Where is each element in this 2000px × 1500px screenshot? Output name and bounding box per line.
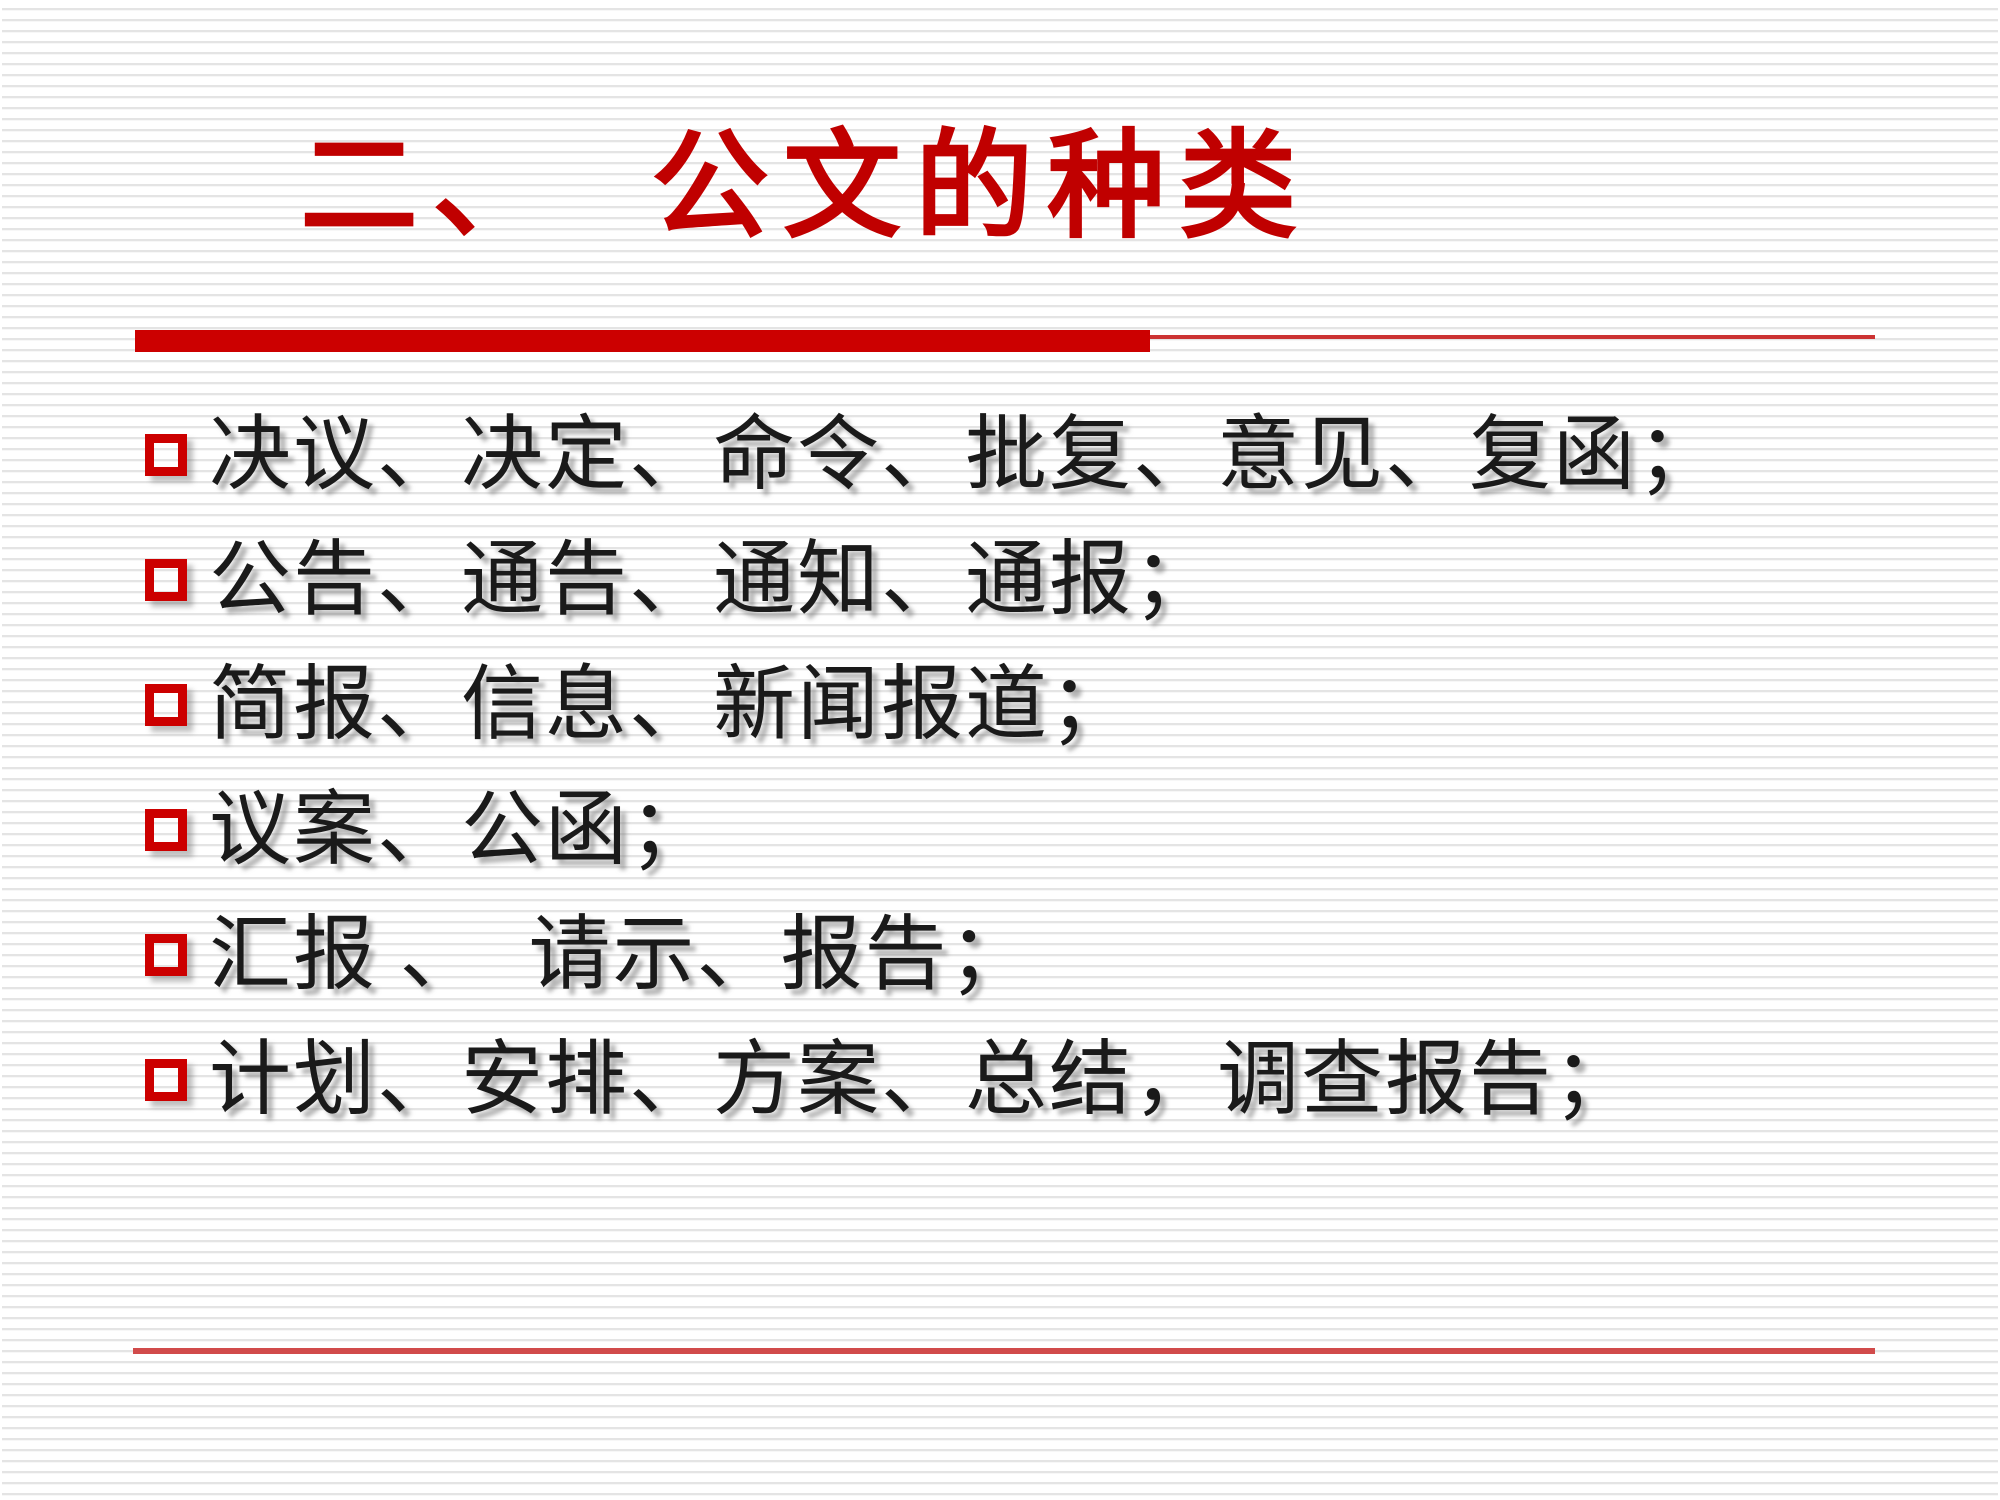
list-item-label: 决议、决定、命令、批复、意见、复函； — [209, 409, 1945, 501]
list-item-label: 简报、信息、新闻报道； — [209, 659, 1945, 751]
list-item: 汇报 、 请示、报告； — [145, 892, 1945, 1017]
square-bullet-icon — [145, 1059, 187, 1101]
slide-canvas: 二、 公文的种类 决议、决定、命令、批复、意见、复函； 公告、通告、通知、通报；… — [0, 0, 2000, 1500]
page-title: 二、 公文的种类 — [300, 118, 1311, 258]
list-item-label: 汇报 、 请示、报告； — [209, 909, 1945, 1001]
list-item: 公告、通告、通知、通报； — [145, 517, 1945, 642]
list-item-label: 议案、公函； — [209, 784, 1945, 876]
square-bullet-icon — [145, 684, 187, 726]
square-bullet-icon — [145, 434, 187, 476]
list-item-label: 计划、安排、方案、总结，调查报告； — [209, 1034, 1945, 1126]
list-item: 决议、决定、命令、批复、意见、复函； — [145, 392, 1945, 517]
square-bullet-icon — [145, 809, 187, 851]
title-block: 二、 公文的种类 — [0, 118, 2000, 278]
square-bullet-icon — [145, 559, 187, 601]
title-underline-thin — [1150, 335, 1875, 339]
footer-rule — [133, 1348, 1875, 1354]
list-item-label: 公告、通告、通知、通报； — [209, 534, 1945, 626]
title-underline-thick — [135, 330, 1150, 352]
list-item: 议案、公函； — [145, 767, 1945, 892]
bullet-list: 决议、决定、命令、批复、意见、复函； 公告、通告、通知、通报； 简报、信息、新闻… — [145, 392, 1945, 1142]
list-item: 计划、安排、方案、总结，调查报告； — [145, 1017, 1945, 1142]
square-bullet-icon — [145, 934, 187, 976]
list-item: 简报、信息、新闻报道； — [145, 642, 1945, 767]
